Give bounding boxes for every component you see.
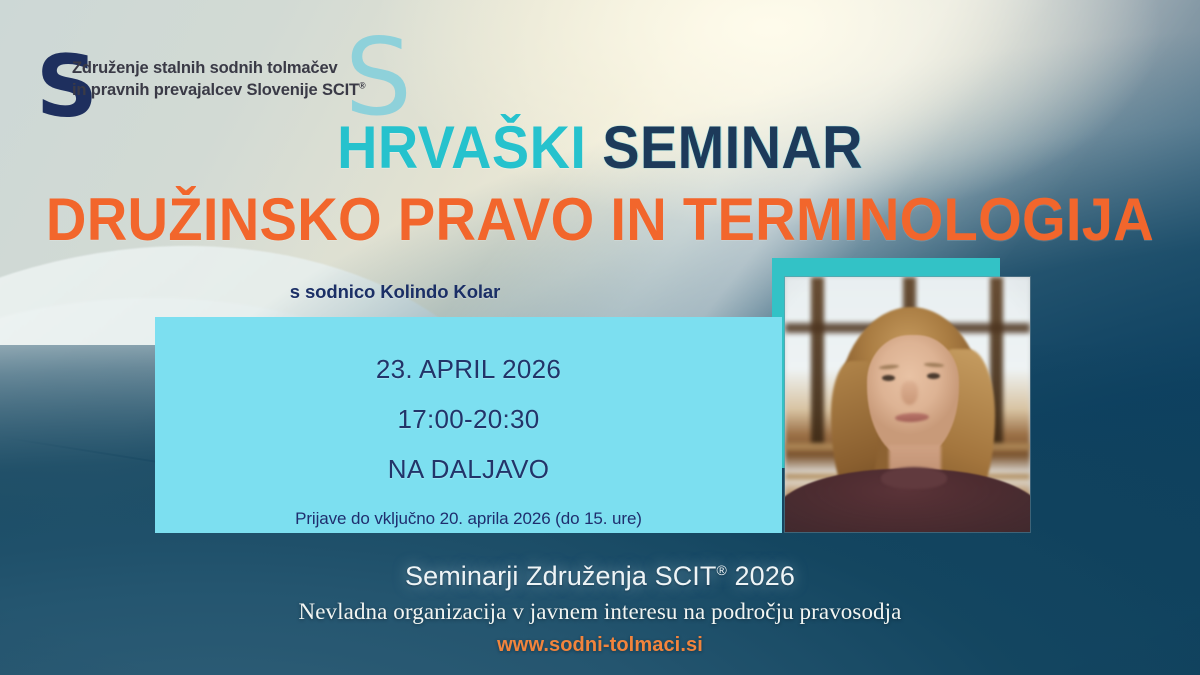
presenter-line: s sodnico Kolindo Kolar [0, 281, 790, 303]
logo-line-1: Združenje stalnih sodnih tolmačev [72, 59, 338, 77]
website-link[interactable]: www.sodni-tolmaci.si [0, 634, 1200, 657]
portrait-soft-vignette [785, 277, 1030, 532]
logo-registered-icon: ® [359, 80, 365, 90]
event-details-panel: 23. APRIL 2026 17:00-20:30 NA DALJAVO Pr… [155, 317, 782, 533]
series-title: Seminarji Združenja SCIT® 2026 [0, 561, 1200, 592]
logo-line-2: in pravnih prevajalcev Slovenije SCIT [72, 81, 359, 99]
organization-tagline: Nevladna organizacija v javnem interesu … [0, 599, 1200, 625]
series-year: 2026 [727, 561, 795, 591]
seminar-poster: S S Združenje stalnih sodnih tolmačev in… [0, 0, 1200, 675]
logo-wordmark: Združenje stalnih sodnih tolmačev in pra… [72, 58, 412, 102]
event-time: 17:00-20:30 [155, 404, 782, 435]
page-title: HRVAŠKI SEMINAR [42, 118, 1158, 178]
presenter-portrait-photo [785, 277, 1030, 532]
series-title-text: Seminarji Združenja SCIT [405, 561, 717, 591]
title-word-seminar: SEMINAR [602, 114, 863, 181]
poster-footer: Seminarji Združenja SCIT® 2026 Nevladna … [0, 561, 1200, 657]
registration-deadline-note: Prijave do vključno 20. aprila 2026 (do … [155, 509, 782, 529]
series-registered-icon: ® [717, 562, 727, 578]
page-subtitle: DRUŽINSKO PRAVO IN TERMINOLOGIJA [39, 190, 1161, 250]
event-format: NA DALJAVO [155, 454, 782, 485]
title-word-hrvaski: HRVAŠKI [337, 114, 602, 181]
poster-headline: HRVAŠKI SEMINAR DRUŽINSKO PRAVO IN TERMI… [0, 118, 1200, 250]
event-date: 23. APRIL 2026 [155, 354, 782, 385]
